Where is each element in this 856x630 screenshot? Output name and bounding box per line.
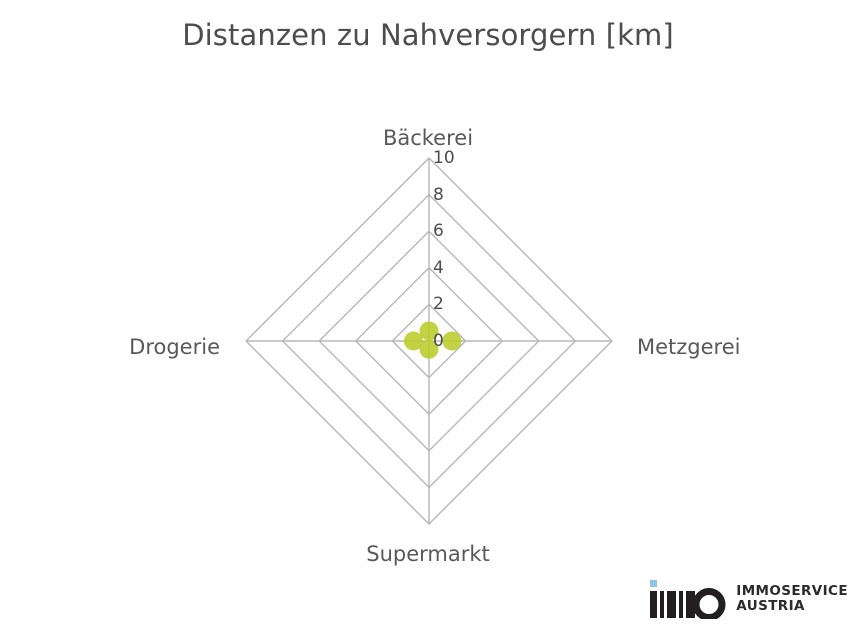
axis-label-metzgerei: Metzgerei [637, 335, 740, 359]
plot-area: 0246810 [0, 0, 856, 630]
brand-wordmark: IMMOSERVICE AUSTRIA [736, 584, 848, 614]
axis-label-baeckerei: Bäckerei [0, 126, 856, 150]
radar-grid-svg [0, 0, 856, 630]
logo-accent-dot [650, 580, 657, 587]
radial-tick-label: 0 [433, 331, 444, 351]
radar-chart-figure: Distanzen zu Nahversorgern [km] 0246810 … [0, 0, 856, 630]
radial-tick-label: 8 [433, 185, 444, 205]
brand-line-1: IMMOSERVICE [736, 584, 848, 599]
immoservice-logo-mark [649, 579, 727, 619]
brand-logo: IMMOSERVICE AUSTRIA [649, 576, 848, 622]
radial-tick-label: 10 [433, 148, 455, 168]
radial-tick-label: 2 [433, 294, 444, 314]
axis-label-supermarkt: Supermarkt [0, 542, 856, 566]
radial-tick-label: 4 [433, 258, 444, 278]
brand-line-2: AUSTRIA [736, 599, 848, 614]
logo-ring-icon [696, 592, 722, 618]
logo-bars-icon [649, 579, 727, 619]
axis-label-drogerie: Drogerie [0, 335, 220, 359]
radial-tick-label: 6 [433, 221, 444, 241]
data-point-marker[interactable] [404, 332, 423, 351]
data-point-marker[interactable] [442, 332, 461, 351]
